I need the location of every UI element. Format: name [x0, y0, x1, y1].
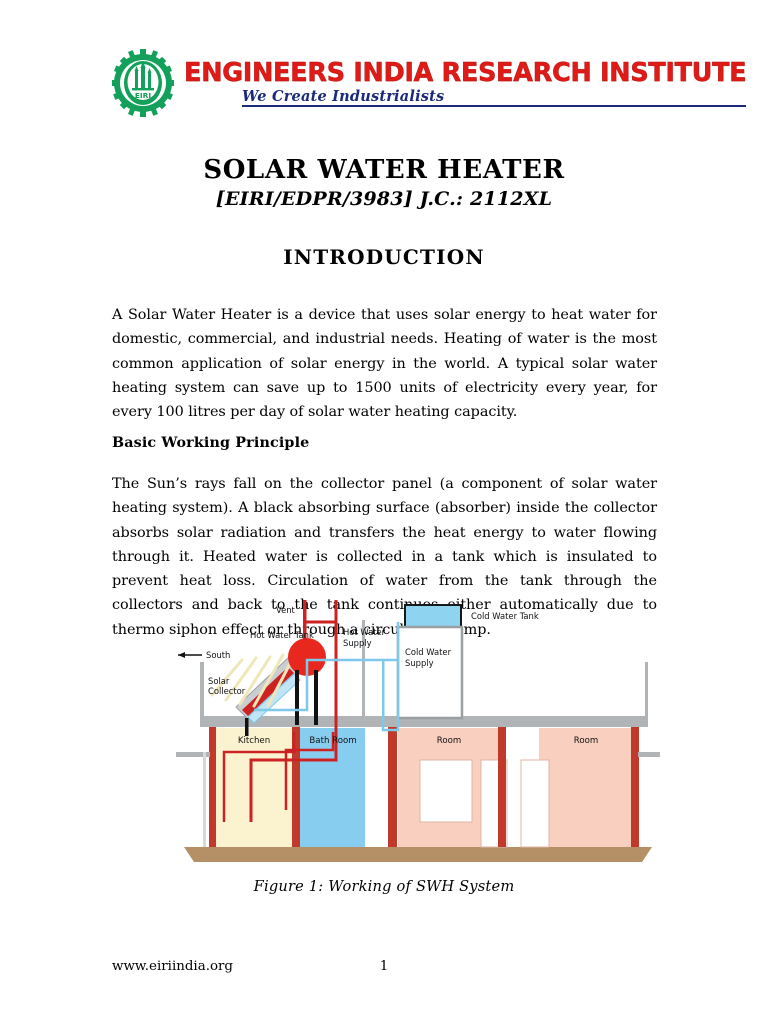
- label-room-2: Room: [574, 736, 598, 746]
- terrace-divider-3: [645, 662, 648, 719]
- ledge-left-wall: [203, 752, 206, 847]
- label-kitchen: Kitchen: [238, 736, 270, 746]
- window-room-1: [420, 760, 472, 822]
- label-hot-water-supply-line2: Supply: [343, 638, 372, 648]
- wall-column-right: [631, 726, 639, 847]
- figure-swh-system-diagram: South Solar Collector Hot Water Tank Ven…: [176, 600, 660, 870]
- logo-tagline-wrap: We Create Industrialists: [242, 89, 746, 107]
- wall-column-room1-room2: [498, 726, 506, 847]
- label-solar-collector-line1: Solar: [208, 676, 230, 686]
- footer-page-number: 1: [0, 959, 768, 974]
- label-cold-water-tank: Cold Water Tank: [471, 611, 539, 621]
- downpipe-black-1: [295, 670, 299, 725]
- south-direction-arrow-icon: [178, 652, 202, 658]
- vent-pipe-branch: [305, 600, 336, 622]
- document-header: EIRI ENGINEERS INDIA RESEARCH INSTITUTE …: [112, 44, 560, 122]
- iri-gear-seal-icon: EIRI: [112, 49, 174, 117]
- door-room-2: [521, 760, 549, 847]
- document-code-subtitle: [EIRI/EDPR/3983] J.C.: 2112XL: [0, 188, 768, 210]
- logo-tagline-text: We Create Industrialists: [242, 89, 746, 104]
- logo-wordmark: ENGINEERS INDIA RESEARCH INSTITUTE We Cr…: [184, 59, 746, 108]
- label-vent: Vent: [276, 605, 296, 615]
- logo-tagline-underline: [242, 105, 746, 107]
- logo-title-text: ENGINEERS INDIA RESEARCH INSTITUTE: [184, 61, 746, 87]
- heading-basic-working-principle: Basic Working Principle: [112, 435, 657, 451]
- ledge-right: [638, 752, 660, 757]
- downpipe-black-2: [314, 670, 318, 725]
- collector-leg-left: [245, 718, 249, 736]
- wall-column-left: [209, 726, 216, 847]
- label-solar-collector-line2: Collector: [208, 686, 246, 696]
- figure-caption: Figure 1: Working of SWH System: [0, 878, 768, 895]
- label-hot-water-supply-line1: Hot Water: [343, 627, 386, 637]
- cold-water-supply-tower: [398, 627, 462, 718]
- page-title: SOLAR WATER HEATER: [0, 155, 768, 185]
- roof-slab: [200, 718, 648, 727]
- terrace-wall-left: [200, 662, 204, 719]
- label-bath-room: Bath Room: [309, 736, 356, 746]
- label-south: South: [206, 650, 230, 660]
- label-cold-water-supply-line2: Supply: [405, 658, 434, 668]
- label-room-1: Room: [437, 736, 461, 746]
- section-heading-introduction: INTRODUCTION: [0, 245, 768, 269]
- label-hot-water-tank: Hot Water Tank: [250, 630, 314, 640]
- paragraph-intro: A Solar Water Heater is a device that us…: [112, 303, 657, 424]
- cold-water-riser: [382, 660, 385, 718]
- door-bath: [369, 758, 391, 847]
- svg-text:EIRI: EIRI: [135, 91, 151, 100]
- label-cold-water-supply-line1: Cold Water: [405, 647, 452, 657]
- wall-column-bath-room: [388, 726, 397, 847]
- cold-water-tank-box: [405, 605, 461, 627]
- solar-collector-panel: [236, 658, 300, 723]
- ground-base: [184, 847, 652, 862]
